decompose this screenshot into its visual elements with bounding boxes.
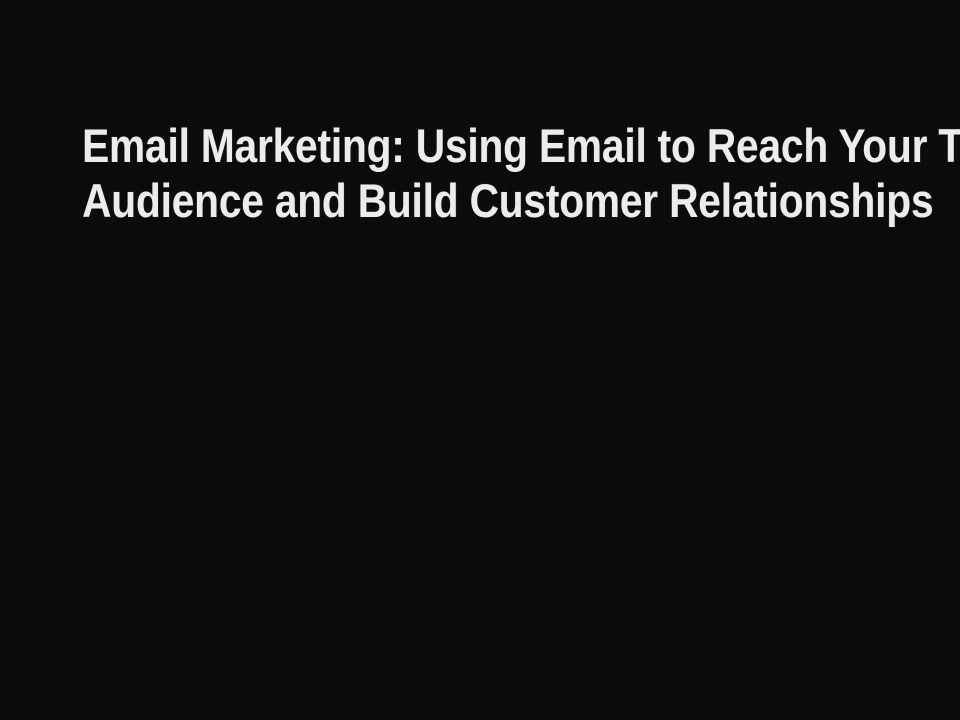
- page-title: Email Marketing: Using Email to Reach Yo…: [0, 118, 960, 228]
- title-card-screen: Email Marketing: Using Email to Reach Yo…: [0, 0, 960, 720]
- film-grain-overlay: [0, 0, 960, 720]
- title-line-2: Audience and Build Customer Relationship…: [82, 173, 878, 228]
- title-line-1: Email Marketing: Using Email to Reach Yo…: [82, 118, 878, 173]
